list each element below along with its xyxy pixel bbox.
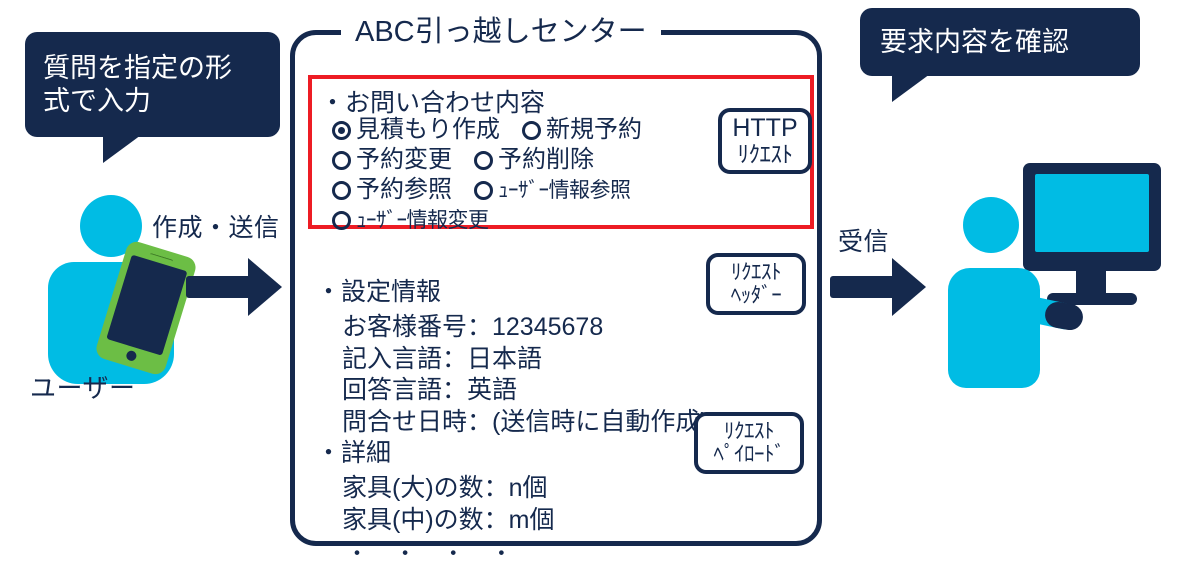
operator-avatar-head-icon [963, 197, 1019, 253]
speech-bubble-right-tail [892, 74, 930, 102]
radio-option-new-reservation[interactable]: 新規予約 [522, 118, 642, 142]
radio-option-change-user-info[interactable]: ｭｰｻﾞｰ情報変更 [332, 210, 489, 231]
radio-option-view-user-info[interactable]: ｭｰｻﾞｰ情報参照 [474, 180, 631, 201]
send-action-label: 作成・送信 [152, 208, 280, 244]
tag-request-payload-line2: ﾍﾟｲﾛｰﾄﾞ [704, 443, 794, 466]
radio-option-label: ｭｰｻﾞｰ情報変更 [356, 210, 489, 231]
inquiry-heading: ・お問い合わせ内容 [320, 83, 545, 119]
settings-line-reply-language: 回答言語：英語 [342, 375, 709, 407]
tag-request-header-line1: ﾘｸｴｽﾄ [716, 261, 796, 284]
speech-bubble-right: 要求内容を確認 [860, 8, 1140, 76]
settings-heading: ・設定情報 [316, 272, 709, 308]
radio-option-label: 新規予約 [546, 118, 642, 142]
settings-line-customer-number: お客様番号：12345678 [342, 312, 709, 344]
receive-action-label: 受信 [838, 222, 889, 258]
speech-bubble-left: 質問を指定の形 式で入力 [25, 32, 280, 137]
radio-button-icon[interactable] [332, 181, 351, 200]
radio-option-label: ｭｰｻﾞｰ情報参照 [498, 180, 631, 201]
radio-option-quote-create[interactable]: 見積もり作成 [332, 118, 500, 142]
radio-button-icon[interactable] [474, 151, 493, 170]
radio-button-icon[interactable] [522, 121, 541, 140]
radio-option-label: 見積もり作成 [356, 118, 500, 142]
user-label: ユーザー [30, 368, 135, 405]
radio-option-label: 予約参照 [356, 178, 452, 202]
radio-row: 予約変更 予約削除 [332, 145, 664, 175]
settings-line-input-language: 記入言語：日本語 [342, 344, 709, 376]
diagram-canvas: 質問を指定の形 式で入力 要求内容を確認 ユーザー 作成・送信 ABC引っ越しセ… [0, 0, 1195, 557]
inquiry-heading-text: お問い合わせ内容 [345, 89, 545, 117]
smartphone-home-button [125, 350, 137, 362]
tag-request-payload-line1: ﾘｸｴｽﾄ [704, 420, 794, 443]
detail-bullet: ・ [316, 439, 341, 467]
tag-http-request: HTTP ﾘｸｴｽﾄ [718, 108, 812, 174]
speech-bubble-left-text: 質問を指定の形 式で入力 [43, 52, 232, 118]
arrow-right-send-icon [186, 258, 290, 316]
radio-option-view-reservation[interactable]: 予約参照 [332, 178, 452, 202]
radio-row: ｭｰｻﾞｰ情報変更 [332, 205, 664, 235]
radio-button-icon[interactable] [332, 121, 351, 140]
radio-button-icon[interactable] [332, 211, 351, 230]
smartphone-icon [94, 239, 199, 377]
radio-button-icon[interactable] [332, 151, 351, 170]
radio-row: 見積もり作成 新規予約 [332, 115, 664, 145]
radio-row: 予約参照 ｭｰｻﾞｰ情報参照 [332, 175, 664, 205]
settings-heading-text: 設定情報 [341, 278, 441, 306]
radio-option-label: 予約削除 [498, 148, 594, 172]
detail-continuation-dots: ・ ・ ・ ・ [346, 536, 554, 568]
form-title: ABC引っ越しセンター [341, 15, 661, 49]
detail-line-large-furniture: 家具(大)の数：n個 [342, 473, 554, 505]
arrow-head [248, 258, 282, 316]
detail-line-medium-furniture: 家具(中)の数：m個 [342, 505, 554, 537]
radio-button-icon[interactable] [474, 181, 493, 200]
radio-option-change-reservation[interactable]: 予約変更 [332, 148, 452, 172]
monitor-screen [1035, 174, 1149, 252]
tag-http-request-line1: HTTP [728, 115, 802, 143]
radio-option-delete-reservation[interactable]: 予約削除 [474, 148, 594, 172]
detail-heading-text: 詳細 [341, 439, 391, 467]
speech-bubble-left-tail [103, 135, 141, 163]
speech-bubble-right-text: 要求内容を確認 [880, 26, 1069, 59]
inquiry-bullet: ・ [320, 89, 345, 117]
arrow-head [892, 258, 926, 316]
tag-http-request-line2: ﾘｸｴｽﾄ [728, 142, 802, 167]
tag-request-header: ﾘｸｴｽﾄ ﾍｯﾀﾞｰ [706, 253, 806, 315]
settings-bullet: ・ [316, 278, 341, 306]
detail-section: ・詳細 家具(大)の数：n個 家具(中)の数：m個 ・ ・ ・ ・ [316, 433, 554, 568]
operator-avatar-body-icon [948, 268, 1040, 388]
radio-option-label: 予約変更 [356, 148, 452, 172]
monitor-stand-neck [1076, 271, 1106, 295]
arrow-right-receive-icon [830, 258, 934, 316]
tag-request-payload: ﾘｸｴｽﾄ ﾍﾟｲﾛｰﾄﾞ [694, 412, 804, 474]
tag-request-header-line2: ﾍｯﾀﾞｰ [716, 284, 796, 307]
inquiry-radio-group[interactable]: 見積もり作成 新規予約 予約変更 予約削除 [332, 115, 664, 235]
settings-section: ・設定情報 お客様番号：12345678 記入言語：日本語 回答言語：英語 問合… [316, 272, 709, 438]
detail-heading: ・詳細 [316, 433, 554, 469]
monitor-icon [1023, 163, 1161, 271]
